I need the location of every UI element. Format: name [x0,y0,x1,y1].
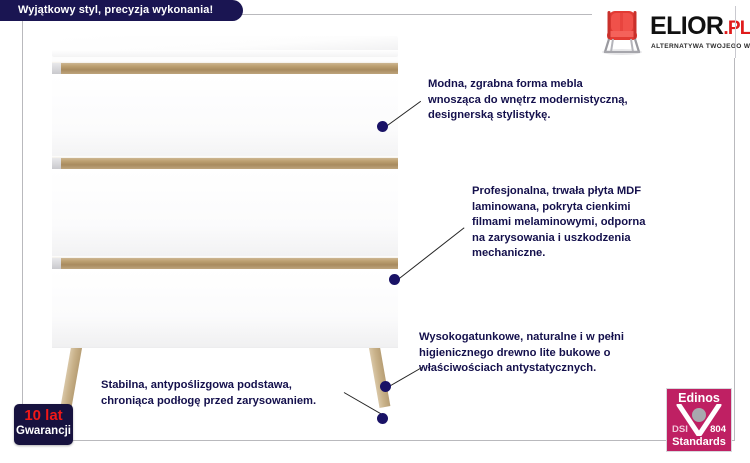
armchair-icon [596,7,648,57]
callout-base: Stabilna, antypoślizgowa podstawa, chron… [101,378,316,409]
headline-banner: Wyjątkowy styl, precyzja wykonania! [0,0,243,21]
edinos-code-left: DSI [672,424,688,435]
guarantee-badge: 10 lat Gwarancji [14,404,73,445]
guarantee-label: Gwarancji [14,424,73,438]
product-top-bevel [52,50,398,57]
callout-material: Profesjonalna, trwała płyta MDF laminowa… [472,184,645,262]
promo-banner-page: Wyjątkowy styl, precyzja wykonania! EL [0,0,750,463]
product-image-chest-of-drawers [52,36,398,348]
edinos-standards-badge: Edinos DSI 804 Standards [666,388,732,452]
handle-cap-left [52,258,61,269]
product-handle-2 [52,158,398,169]
edinos-title: Edinos [667,391,731,405]
guarantee-years: 10 lat [14,408,73,424]
brand-logo[interactable]: ELIOR.PL ALTERNATYWA TWOJEGO WNĘTRZA [592,6,737,58]
edinos-subtitle: Standards [667,436,731,448]
callout-wood: Wysokogatunkowe, naturalne i w pełni hig… [419,330,624,377]
callout-dot-design [377,121,388,132]
callout-dot-wood [380,381,391,392]
headline-text: Wyjątkowy styl, precyzja wykonania! [18,4,213,16]
callout-dot-material [389,274,400,285]
brand-name: ELIOR [650,12,723,40]
handle-cap-left [52,63,61,74]
edinos-code-right: 804 [710,424,726,435]
product-drawer-2 [52,169,398,263]
callout-design: Modna, zgrabna forma mebla wnosząca do w… [428,77,628,124]
product-handle-3 [52,258,398,269]
product-handle-1 [52,63,398,74]
handle-cap-left [52,158,61,169]
product-drawer-3 [52,269,398,348]
product-drawer-1 [52,74,398,168]
callout-dot-base [377,413,388,424]
logo-divider [735,6,736,58]
brand-tld: .PL [723,18,750,39]
